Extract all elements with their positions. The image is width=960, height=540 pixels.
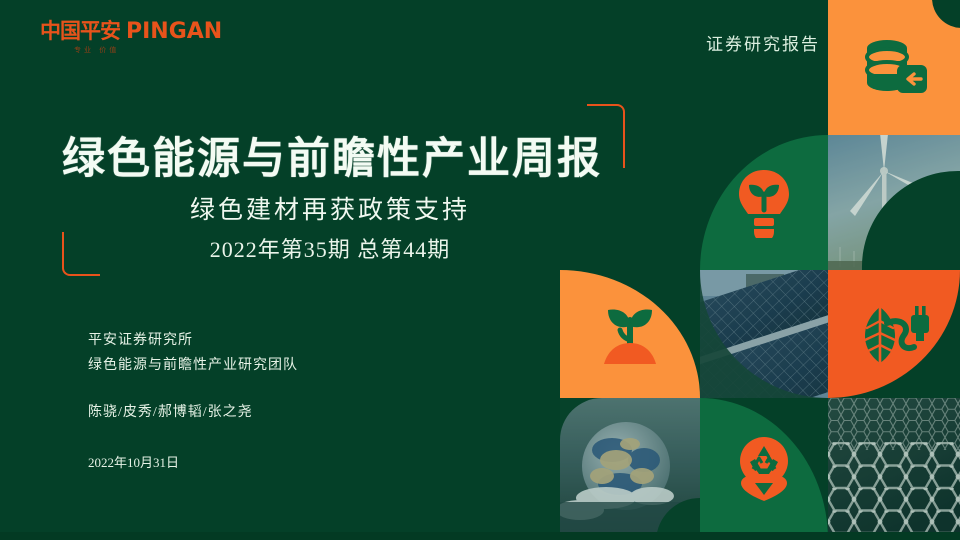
image-mosaic <box>560 0 960 540</box>
mosaic-cell-solar <box>700 270 828 398</box>
page-title: 绿色能源与前瞻性产业周报 <box>62 124 622 186</box>
logo-chinese-name: 中国平安 <box>40 19 120 43</box>
pingan-logo: 中国平安PINGAN 专业 价值 <box>40 20 270 62</box>
leaf-plug-icon <box>828 270 960 398</box>
sprout-icon <box>560 270 700 398</box>
eco-bulb-icon <box>700 135 828 270</box>
mosaic-cell-leafplug <box>828 270 960 398</box>
coins-stack-icon <box>828 0 960 135</box>
author-list: 陈骁/皮秀/郝博韬/张之尧 <box>88 401 253 421</box>
bottom-divider <box>0 532 960 540</box>
recycle-pin-icon <box>700 398 828 540</box>
institute-name: 平安证券研究所 <box>88 329 193 349</box>
mosaic-cell-coins <box>828 0 960 135</box>
mosaic-cell-graphene <box>828 398 960 540</box>
logo-english-name: PINGAN <box>126 19 222 44</box>
mosaic-cell-bulb <box>700 135 828 270</box>
logo-wordmark: 中国平安PINGAN <box>40 20 270 43</box>
team-name: 绿色能源与前瞻性产业研究团队 <box>88 354 298 374</box>
logo-tagline: 专业 价值 <box>74 45 270 55</box>
graphene-photo <box>828 398 960 540</box>
mosaic-cell-wind <box>828 135 960 270</box>
mosaic-cell-earth <box>560 398 700 540</box>
mosaic-cell-sprout <box>560 270 700 398</box>
publish-date: 2022年10月31日 <box>88 452 179 471</box>
report-cover-slide: 中国平安PINGAN 专业 价值 证券研究报告 绿色能源与前瞻性产业周报 绿色建… <box>0 0 960 540</box>
wind-turbine-photo <box>828 135 960 270</box>
earth-ocean-photo <box>560 398 700 540</box>
mosaic-cell-recycle <box>700 398 828 540</box>
solar-panel-photo <box>700 270 828 398</box>
